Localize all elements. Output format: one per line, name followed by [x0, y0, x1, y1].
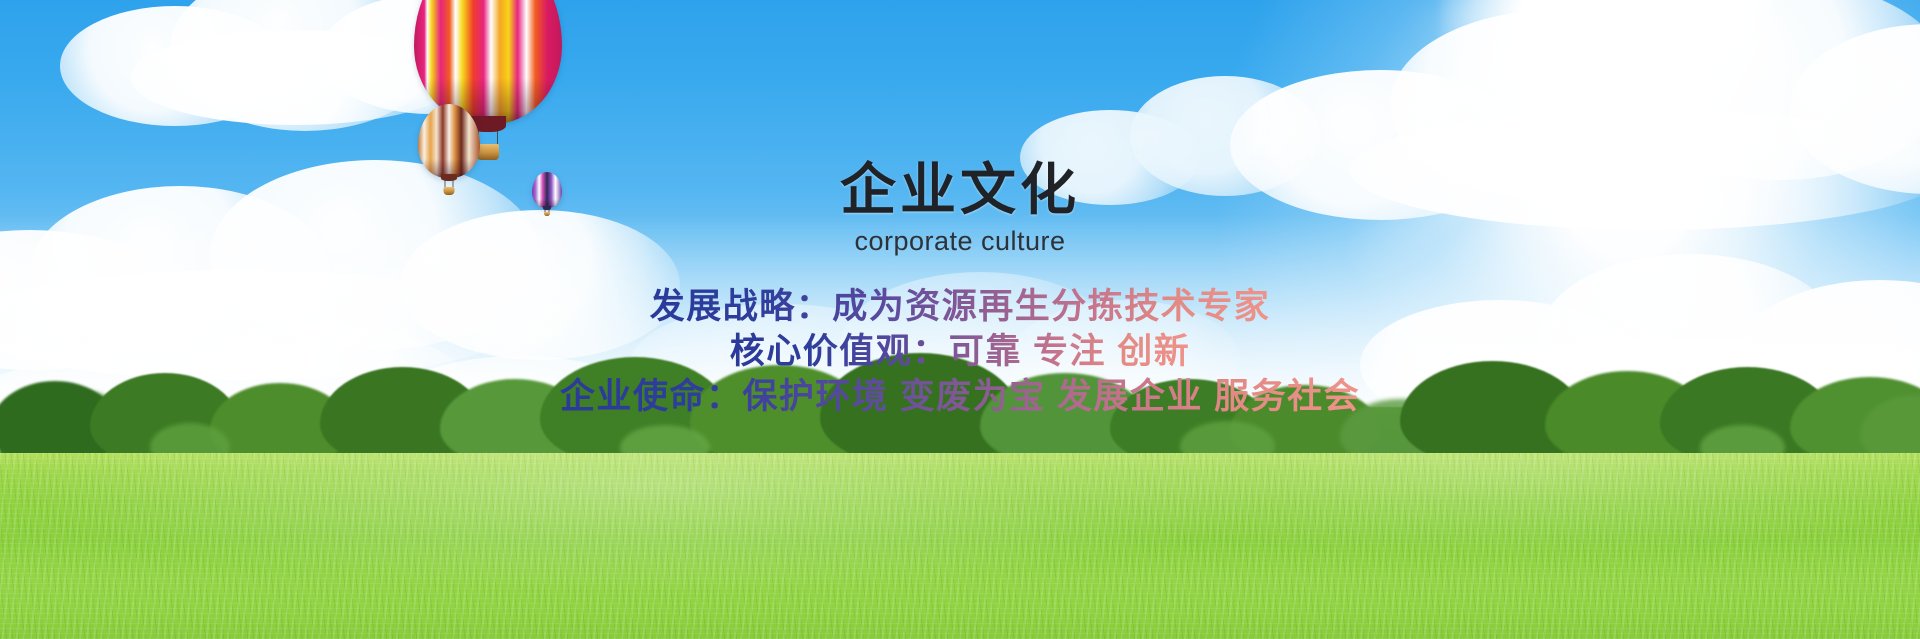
slogan-corporate-mission: 企业使命：保护环境 变废为宝 发展企业 服务社会 [556, 375, 1364, 420]
grass-sheen [0, 453, 1920, 639]
slogan-row: 核心价值观：可靠 专注 创新 [0, 330, 1920, 375]
slogan-list: 发展战略：成为资源再生分拣技术专家 核心价值观：可靠 专注 创新 企业使命：保护… [0, 285, 1920, 419]
slogan-core-values: 核心价值观：可靠 专注 创新 [726, 330, 1194, 375]
slogan-development-strategy: 发展战略：成为资源再生分拣技术专家 [646, 285, 1275, 330]
slogan-row: 发展战略：成为资源再生分拣技术专家 [0, 285, 1920, 330]
banner-content: 企业文化 corporate culture 发展战略：成为资源再生分拣技术专家… [0, 0, 1920, 419]
slogan-row: 企业使命：保护环境 变废为宝 发展企业 服务社会 [0, 375, 1920, 420]
page-subtitle: corporate culture [0, 228, 1920, 255]
corporate-culture-banner: 企业文化 corporate culture 发展战略：成为资源再生分拣技术专家… [0, 0, 1920, 639]
grass-field [0, 453, 1920, 639]
page-title: 企业文化 [0, 0, 1920, 218]
